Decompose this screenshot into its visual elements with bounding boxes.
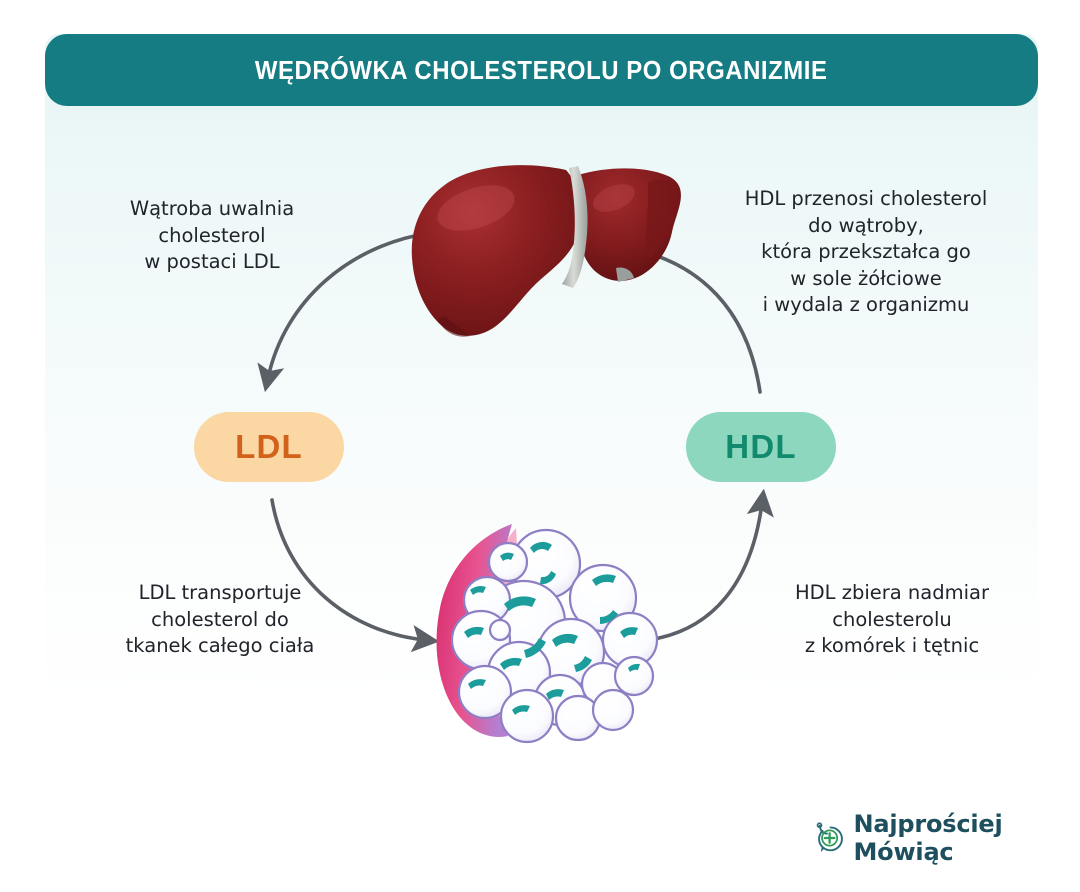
- callout-tissue-to-hdl: HDL zbiera nadmiar cholesterolu z komóre…: [742, 580, 1042, 660]
- callout-line: LDL transportuje: [60, 580, 380, 607]
- brand-logo: Najprościej Mówiąc: [812, 810, 1080, 866]
- callout-liver-to-ldl: Wątroba uwalnia cholesterol w postaci LD…: [62, 196, 362, 276]
- brand-logo-text: Najprościej Mówiąc: [853, 810, 1080, 866]
- content-panel: [45, 34, 1038, 792]
- infographic-root: WĘDRÓWKA CHOLESTEROLU PO ORGANIZMIE Wątr…: [0, 0, 1080, 892]
- callout-line: do wątroby,: [706, 213, 1026, 240]
- callout-ldl-to-tissue: LDL transportuje cholesterol do tkanek c…: [60, 580, 380, 660]
- callout-line: w sole żółciowe: [706, 266, 1026, 293]
- title-banner: WĘDRÓWKA CHOLESTEROLU PO ORGANIZMIE: [45, 34, 1038, 106]
- callout-line: HDL przenosi cholesterol: [706, 186, 1026, 213]
- node-ldl-label: LDL: [235, 428, 303, 466]
- node-hdl-label: HDL: [725, 428, 796, 466]
- callout-line: z komórek i tętnic: [742, 633, 1042, 660]
- stethoscope-medical-cross-icon: [812, 820, 845, 856]
- callout-line: HDL zbiera nadmiar: [742, 580, 1042, 607]
- callout-line: która przekształca go: [706, 239, 1026, 266]
- callout-line: tkanek całego ciała: [60, 633, 380, 660]
- callout-line: cholesterolu: [742, 607, 1042, 634]
- callout-line: cholesterol do: [60, 607, 380, 634]
- callout-line: i wydala z organizmu: [706, 292, 1026, 319]
- callout-hdl-to-liver: HDL przenosi cholesterol do wątroby, któ…: [706, 186, 1026, 319]
- node-ldl: LDL: [194, 412, 344, 482]
- callout-line: w postaci LDL: [62, 249, 362, 276]
- page-title: WĘDRÓWKA CHOLESTEROLU PO ORGANIZMIE: [255, 55, 828, 86]
- node-hdl: HDL: [686, 412, 836, 482]
- callout-line: Wątroba uwalnia: [62, 196, 362, 223]
- callout-line: cholesterol: [62, 223, 362, 250]
